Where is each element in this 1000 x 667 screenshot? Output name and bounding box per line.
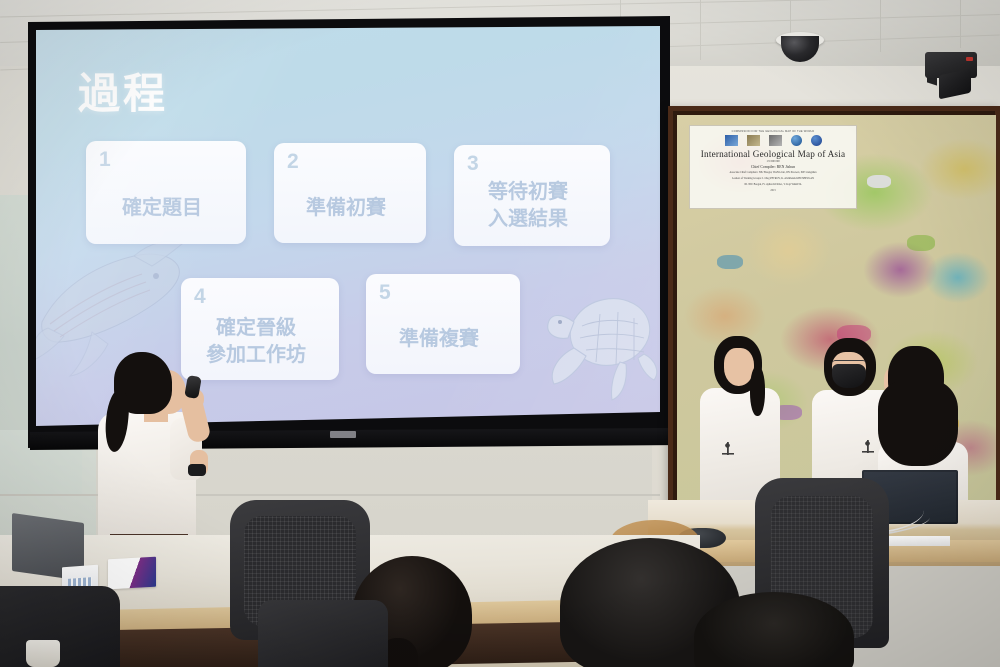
card-number: 4: [194, 285, 206, 309]
map-chief-compiler: Chief Compiler: REN Jishun: [695, 165, 851, 169]
audience-chair: [258, 600, 388, 667]
map-leaders: Leaders of Working Groups: I. Oleg PETRO…: [695, 177, 851, 181]
card-number: 2: [287, 150, 299, 174]
card-label: 準備初賽: [274, 194, 418, 221]
presentation-clicker-secondary[interactable]: [188, 464, 206, 476]
face-mask-icon: [832, 364, 866, 388]
process-card-1: 1 確定題目: [86, 141, 246, 244]
card-number: 5: [379, 281, 391, 305]
name-tent-card-2: [108, 557, 156, 590]
paper-cup: [26, 640, 60, 667]
map-leaders-2: III. NIU Baogui, IV. Ayhan KURAL, V. Koj…: [695, 183, 851, 187]
map-scale: 1:5 000 000: [695, 160, 851, 163]
card-label: 準備複賽: [366, 325, 512, 352]
map-title: International Geological Map of Asia: [695, 149, 851, 159]
map-organization: COMMISSION FOR THE GEOLOGICAL MAP OF THE…: [695, 130, 851, 133]
logo-ccgm-icon: [725, 135, 738, 146]
screen-brand-label: [330, 431, 356, 438]
logo-partner-icon: [747, 135, 760, 146]
card-number: 1: [99, 148, 111, 172]
ceiling-projector-speaker-icon: [925, 52, 977, 98]
map-year: 2013: [695, 189, 851, 192]
card-number: 3: [467, 152, 479, 176]
student-1-ponytail: [750, 366, 765, 416]
photo-scene: 過程 1 確定題目 2 準備初賽 3 等待初賽 入選結果: [0, 0, 1000, 667]
card-label: 確定題目: [86, 194, 238, 221]
process-card-3: 3 等待初賽 入選結果: [454, 145, 610, 246]
logo-unesco-icon: [769, 135, 782, 146]
card-label: 等待初賽 入選結果: [454, 178, 602, 232]
student-3-long-hair: [878, 380, 958, 466]
process-card-5: 5 準備複賽: [366, 274, 520, 374]
process-card-2: 2 準備初賽: [274, 143, 426, 243]
map-logos: [695, 135, 851, 146]
map-associates: Associate Chief Compilers: NIU Baogui, W…: [695, 171, 851, 175]
foreground-chair-left: [0, 586, 120, 667]
school-emblem-icon: [720, 440, 735, 458]
logo-globe-icon: [791, 135, 802, 146]
logo-iugs-icon: [811, 135, 822, 146]
dome-security-camera-icon: [776, 32, 824, 62]
map-poster-label: COMMISSION FOR THE GEOLOGICAL MAP OF THE…: [689, 125, 857, 209]
